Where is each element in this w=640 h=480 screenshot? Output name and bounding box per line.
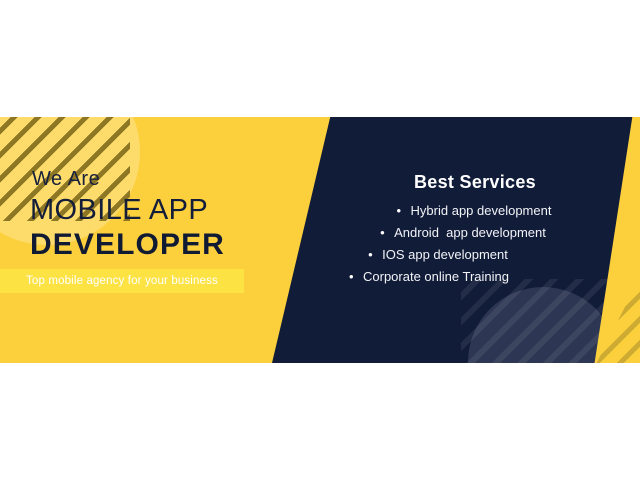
eyebrow-text: We Are — [32, 169, 290, 189]
tagline-text: Top mobile agency for your business — [26, 275, 218, 287]
promo-banner: We Are MOBILE APP DEVELOPER Top mobile a… — [0, 117, 640, 363]
service-label: Android app development — [380, 222, 546, 244]
headline-line-2: DEVELOPER — [30, 230, 290, 260]
list-item: Corporate online Training — [330, 266, 620, 288]
service-label: Hybrid app development — [397, 200, 552, 222]
services-title: Best Services — [330, 172, 620, 193]
list-item: IOS app development — [330, 244, 620, 266]
tagline-bar: Top mobile agency for your business — [0, 269, 244, 293]
page-canvas: We Are MOBILE APP DEVELOPER Top mobile a… — [0, 0, 640, 480]
headline-block: We Are MOBILE APP DEVELOPER — [30, 169, 290, 260]
list-item: Android app development — [330, 222, 620, 244]
service-label: IOS app development — [368, 244, 508, 266]
service-label: Corporate online Training — [349, 266, 509, 288]
services-block: Best Services Hybrid app development And… — [330, 172, 620, 288]
headline-line-1: MOBILE APP — [30, 196, 290, 225]
services-list: Hybrid app development Android app devel… — [330, 200, 620, 288]
list-item: Hybrid app development — [330, 200, 620, 222]
